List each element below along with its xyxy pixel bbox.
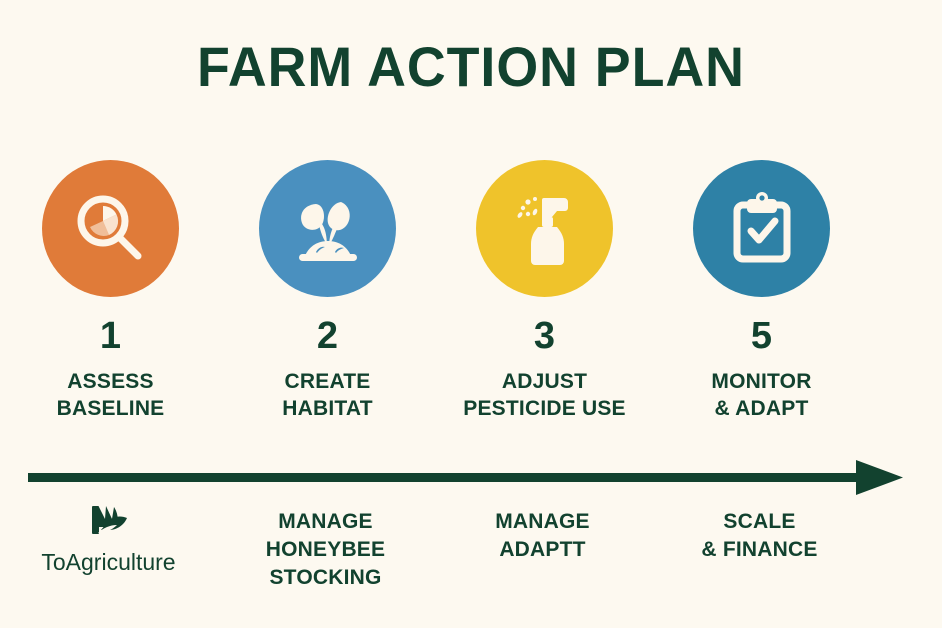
magnifier-pie-chart-icon [68, 186, 154, 272]
step-item-2[interactable]: 2 CREATE HABITAT [219, 160, 436, 423]
step-number-3: 3 [534, 317, 555, 355]
step-icon-circle-4[interactable] [693, 160, 830, 297]
infographic-canvas: FARM ACTION PLAN [0, 0, 942, 628]
step-icon-circle-1[interactable] [42, 160, 179, 297]
step-icon-circle-2[interactable] [259, 160, 396, 297]
step-item-3[interactable]: 3 ADJUST PESTICIDE USE [436, 160, 653, 423]
timeline-arrow [0, 455, 942, 501]
step-item-1[interactable]: 1 ASSESS BASELINE [2, 160, 219, 423]
step-label-2: CREATE HABITAT [282, 368, 372, 423]
step-number-1: 1 [100, 317, 121, 355]
bottom-label-4: SCALE & FINANCE [701, 508, 817, 564]
step-icon-circle-3[interactable] [476, 160, 613, 297]
spray-bottle-icon [502, 186, 588, 272]
seedling-icon [285, 186, 371, 272]
bottom-label-3: MANAGE ADAPTT [495, 508, 590, 564]
bottom-item-4: SCALE & FINANCE [651, 498, 868, 564]
step-item-4[interactable]: 5 MONITOR & ADAPT [653, 160, 870, 423]
steps-row: 1 ASSESS BASELINE [0, 160, 942, 450]
bottom-label-2: MANAGE HONEYBEE STOCKING [266, 508, 385, 592]
brand-logo-cell[interactable]: ToAgriculture [0, 498, 217, 574]
step-label-4: MONITOR & ADAPT [711, 368, 811, 423]
bottom-row: ToAgriculture MANAGE HONEYBEE STOCKING M… [0, 498, 942, 628]
step-number-2: 2 [317, 317, 338, 355]
brand-logo[interactable]: ToAgriculture [41, 500, 175, 574]
page-title: FARM ACTION PLAN [19, 38, 923, 97]
step-number-4: 5 [751, 317, 772, 355]
step-label-3: ADJUST PESTICIDE USE [463, 368, 625, 423]
step-label-1: ASSESS BASELINE [57, 368, 165, 423]
leaf-logo-icon [86, 500, 130, 545]
bottom-item-2: MANAGE HONEYBEE STOCKING [217, 498, 434, 592]
bottom-item-3: MANAGE ADAPTT [434, 498, 651, 564]
brand-logo-text: ToAgriculture [41, 551, 175, 574]
clipboard-check-icon [719, 186, 805, 272]
